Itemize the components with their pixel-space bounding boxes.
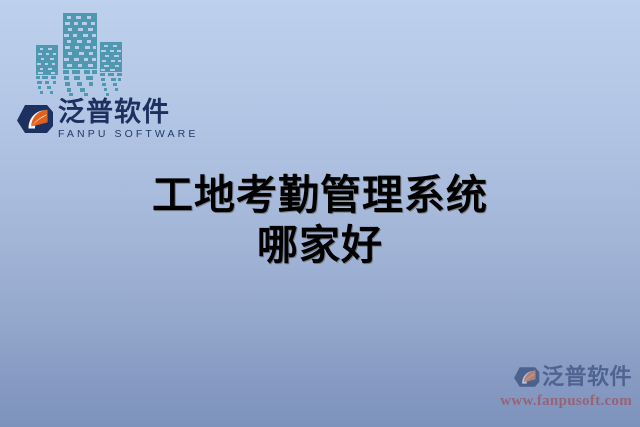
watermark-url: www.fanpusoft.com [500, 393, 632, 410]
page-title-line-1: 工地考勤管理系统 [0, 170, 640, 220]
brand-wordmark: 泛普软件 FANPU SOFTWARE [58, 98, 198, 140]
page-title: 工地考勤管理系统 哪家好 [0, 170, 640, 270]
pixel-city-skyline-graphic [32, 6, 152, 98]
fanpu-logo-mark-icon [14, 99, 54, 139]
fanpu-logo-mark-watermark-icon [512, 363, 540, 391]
brand-name-cn: 泛普软件 [58, 98, 198, 126]
brand-name-en: FANPU SOFTWARE [58, 129, 198, 140]
brand-logo: 泛普软件 FANPU SOFTWARE [14, 96, 198, 142]
watermark: 泛普软件 www.fanpusoft.com [500, 363, 632, 410]
promo-banner: 泛普软件 FANPU SOFTWARE 工地考勤管理系统 哪家好 泛普软件 ww… [0, 0, 640, 427]
page-title-line-2: 哪家好 [0, 220, 640, 270]
watermark-brand-name: 泛普软件 [542, 366, 632, 388]
watermark-logo-row: 泛普软件 [512, 363, 632, 391]
